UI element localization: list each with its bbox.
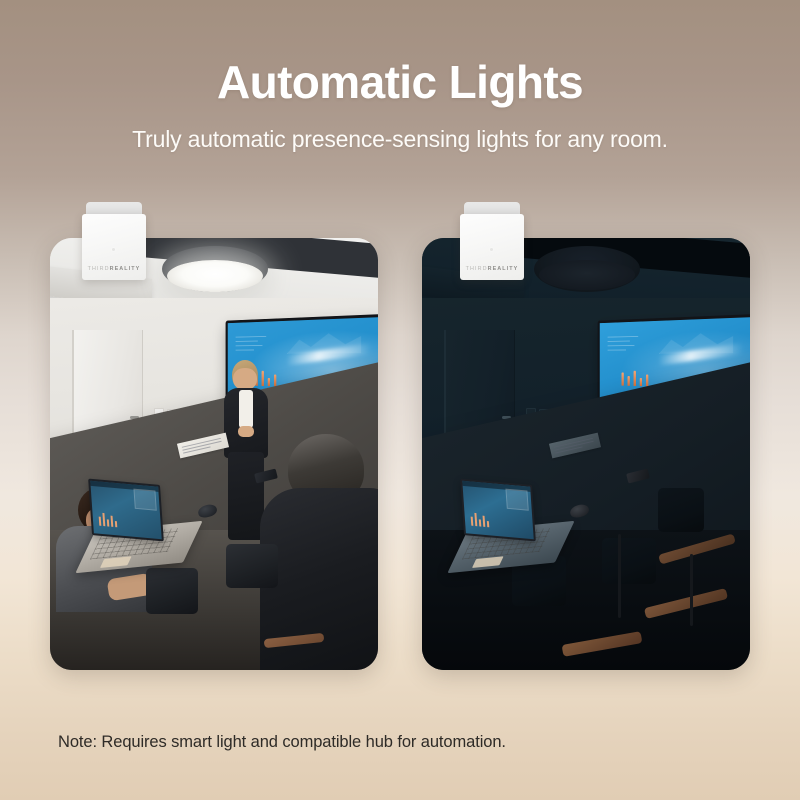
laptop-screen-on — [462, 481, 533, 539]
sensor-brand-suffix: REALITY — [488, 266, 519, 272]
footer-note: Note: Requires smart light and compatibl… — [58, 733, 506, 752]
comparison-card-lights-off[interactable] — [422, 238, 750, 670]
comparison-gallery — [50, 238, 750, 670]
sensor-brand-suffix: REALITY — [110, 266, 141, 272]
chair-leg-2 — [690, 554, 693, 626]
comparison-card-lights-on[interactable] — [50, 238, 378, 670]
page-title: Automatic Lights — [0, 58, 800, 106]
page-subtitle: Truly automatic presence-sensing lights … — [0, 126, 800, 153]
promo-stage: Automatic Lights Truly automatic presenc… — [0, 0, 800, 800]
room-scene-dark — [422, 238, 750, 670]
sensor-brand-prefix: THIRD — [466, 266, 488, 272]
sensor-body: THIRDREALITY — [82, 214, 146, 280]
chair-leg-1 — [618, 534, 621, 618]
sensor-brand-logo: THIRDREALITY — [82, 266, 146, 272]
chair-center — [226, 544, 278, 588]
laptop-trackpad — [100, 556, 132, 568]
tv-text-lines — [608, 336, 639, 354]
header: Automatic Lights Truly automatic presenc… — [0, 58, 800, 153]
laptop-lid — [460, 479, 536, 542]
room-scene-lit — [50, 238, 378, 670]
presence-sensor-right[interactable]: THIRDREALITY — [460, 202, 524, 280]
pendant-lamp-glow-off — [539, 260, 635, 290]
chair-center — [602, 538, 656, 584]
laptop — [460, 482, 564, 578]
sensor-body: THIRDREALITY — [460, 214, 524, 280]
sensor-brand-logo: THIRDREALITY — [460, 266, 524, 272]
pendant-lamp-glow-on — [167, 260, 263, 292]
sensor-led-icon — [490, 248, 493, 251]
sensor-brand-prefix: THIRD — [88, 266, 110, 272]
laptop-screen-on — [90, 481, 161, 539]
sensor-led-icon — [112, 248, 115, 251]
laptop — [88, 482, 192, 578]
tv-text-lines — [236, 336, 267, 354]
chair-far — [658, 488, 704, 532]
presence-sensor-left[interactable]: THIRDREALITY — [82, 202, 146, 280]
laptop-trackpad — [472, 556, 504, 568]
laptop-lid — [88, 479, 164, 542]
tv-bar-chart — [621, 371, 648, 387]
